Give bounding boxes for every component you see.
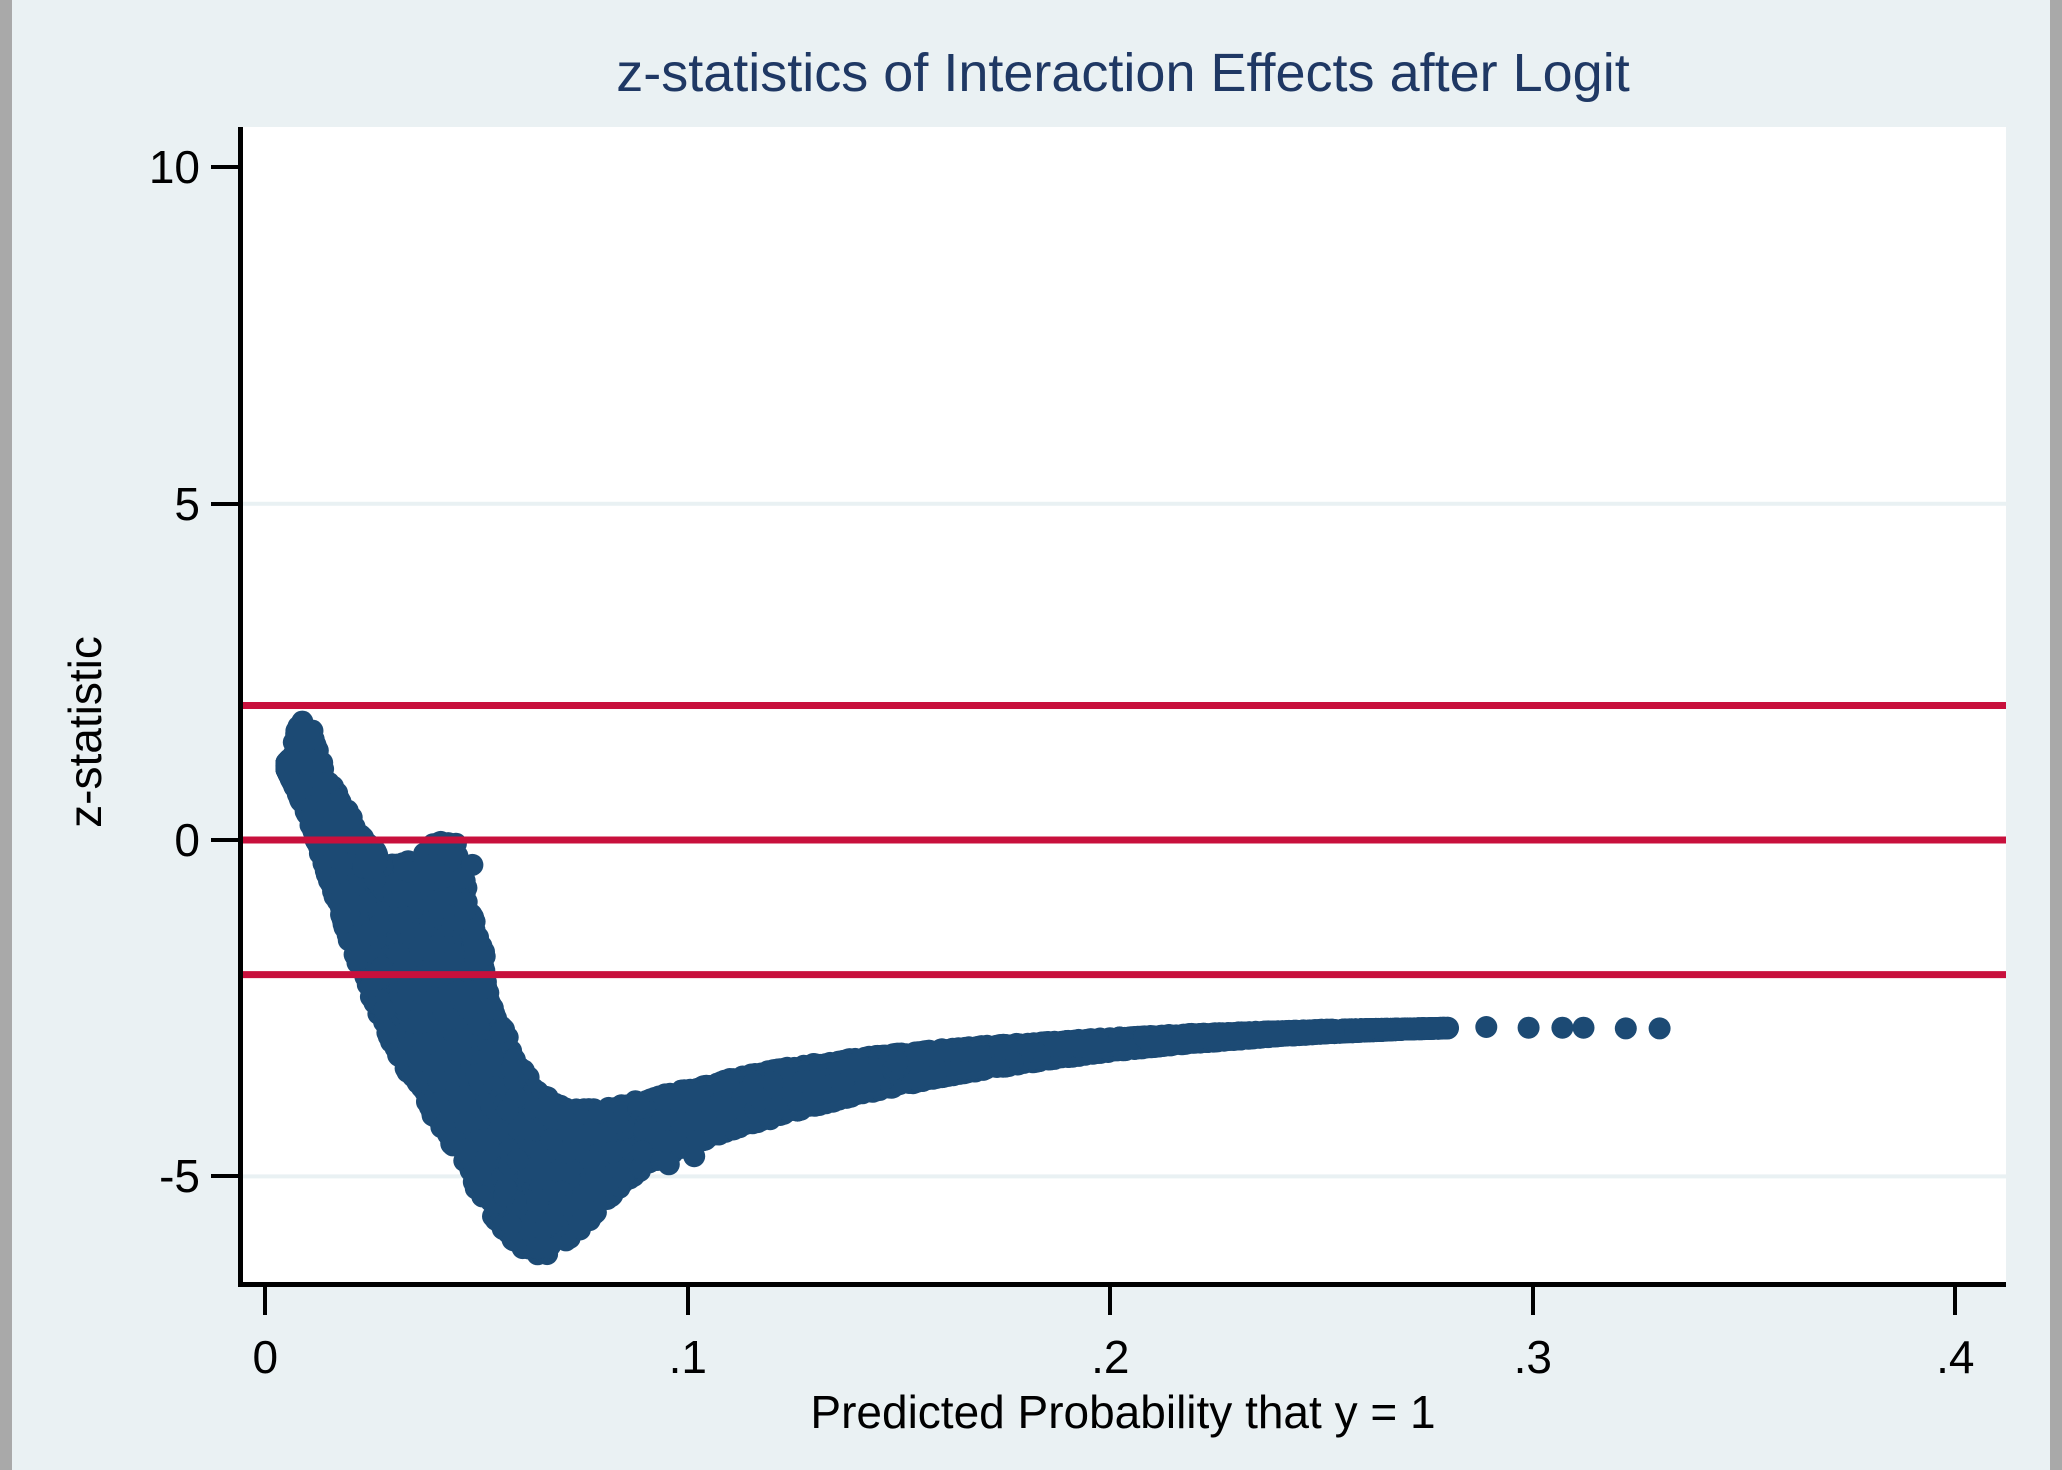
- scatter-canvas: [240, 127, 2006, 1284]
- chart-title: z-statistics of Interaction Effects afte…: [240, 42, 2006, 104]
- window-edge-right: [2050, 0, 2062, 1470]
- chart-root: z-statistics of Interaction Effects afte…: [0, 0, 2062, 1470]
- window-edge-left: [0, 0, 12, 1470]
- data-point-cloud: [276, 711, 1671, 1266]
